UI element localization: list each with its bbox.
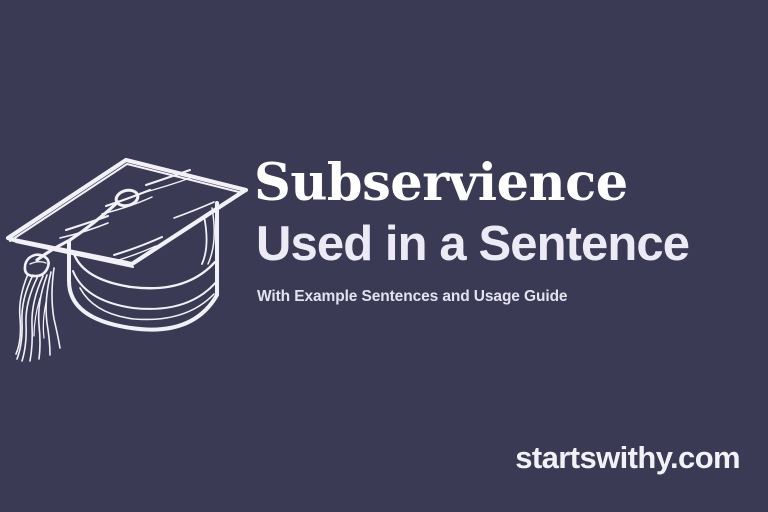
site-brand[interactable]: startswithy.com — [515, 440, 740, 476]
hero-text-block: Subservience Used in a Sentence With Exa… — [254, 156, 754, 307]
social-card: Subservience Used in a Sentence With Exa… — [0, 0, 768, 512]
page-title: Subservience — [254, 156, 754, 210]
hero-headline: Used in a Sentence — [256, 218, 754, 271]
graduation-cap-icon — [0, 138, 254, 368]
hero-subtitle: With Example Sentences and Usage Guide — [257, 288, 754, 307]
